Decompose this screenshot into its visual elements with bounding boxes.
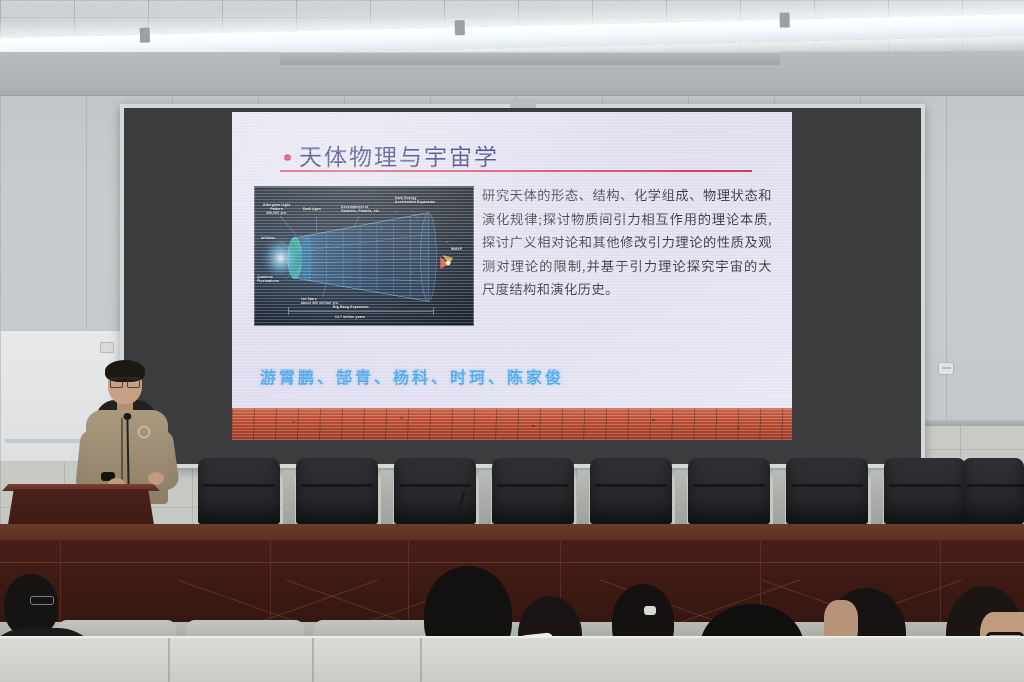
stage-chair: [296, 458, 378, 524]
chair-gap: [479, 470, 491, 524]
wall-switch-icon: [938, 362, 954, 375]
label-afterglow: Afterglow Light Pattern 400,000 yrs.: [263, 203, 290, 215]
stage-chair: [492, 458, 574, 524]
slide-title-row: 天体物理与宇宙学: [284, 138, 752, 172]
label-dark-energy: Dark Energy Accelerated Expansion: [395, 196, 435, 204]
hair-tie-icon: [644, 606, 656, 615]
chair-gap: [773, 470, 785, 524]
chair-gap: [577, 470, 589, 524]
stage-chair: [198, 458, 280, 524]
slide-wood-footer: [232, 408, 792, 440]
label-development: Development of Galaxies, Planets, etc.: [341, 205, 380, 213]
ceiling-beam: [280, 52, 780, 65]
title-underline-rule: [280, 170, 752, 172]
chair-gap: [283, 470, 295, 524]
ceiling: [0, 0, 1024, 52]
label-dark-ages: Dark Ages: [303, 207, 321, 211]
audience-head: [4, 574, 58, 636]
chair-gap: [381, 470, 393, 524]
projection-screen: 天体物理与宇宙学: [120, 104, 925, 468]
stage-chair: [688, 458, 770, 524]
bullet-dot-icon: [284, 154, 291, 161]
wall-outlet-icon: [100, 342, 114, 353]
stage-chair: [786, 458, 868, 524]
stage-chair: [590, 458, 672, 524]
label-wmap: WMAP: [451, 247, 462, 251]
glasses-icon: [30, 596, 54, 605]
chair-gap: [675, 470, 687, 524]
slide-title: 天体物理与宇宙学: [299, 138, 499, 172]
stage-chair: [962, 458, 1024, 524]
presenter-right-hand: [148, 472, 164, 485]
presenter-jacket-logo: [138, 426, 150, 438]
chair-gap: [871, 470, 883, 524]
slide-body-text: 研究天体的形态、结构、化学组成、物理状态和演化规律;探讨物质间引力相互作用的理论…: [482, 184, 772, 302]
stage-chair: [394, 458, 476, 524]
slide-authors: 游霄鹏、郜青、杨科、时珂、陈家俊: [260, 364, 564, 388]
label-quantum-fluctuations: Quantum Fluctuations: [257, 275, 279, 283]
presenter: [72, 360, 178, 500]
stage-chair: [884, 458, 966, 524]
screen-mount-bracket: [510, 99, 536, 108]
label-big-bang-expansion: Big Bang Expansion: [333, 305, 369, 309]
label-inflation: Inflation: [261, 236, 276, 240]
student-desk-row: [0, 636, 1024, 682]
glasses-icon: [110, 377, 140, 384]
projected-slide: 天体物理与宇宙学: [232, 112, 792, 440]
lecture-hall-scene: 天体物理与宇宙学: [0, 0, 1024, 682]
label-duration: 13.7 billion years: [335, 315, 365, 319]
label-first-stars: 1st Stars about 400 million yrs.: [301, 297, 339, 305]
universe-timeline-figure: Afterglow Light Pattern 400,000 yrs. Dar…: [254, 186, 474, 326]
